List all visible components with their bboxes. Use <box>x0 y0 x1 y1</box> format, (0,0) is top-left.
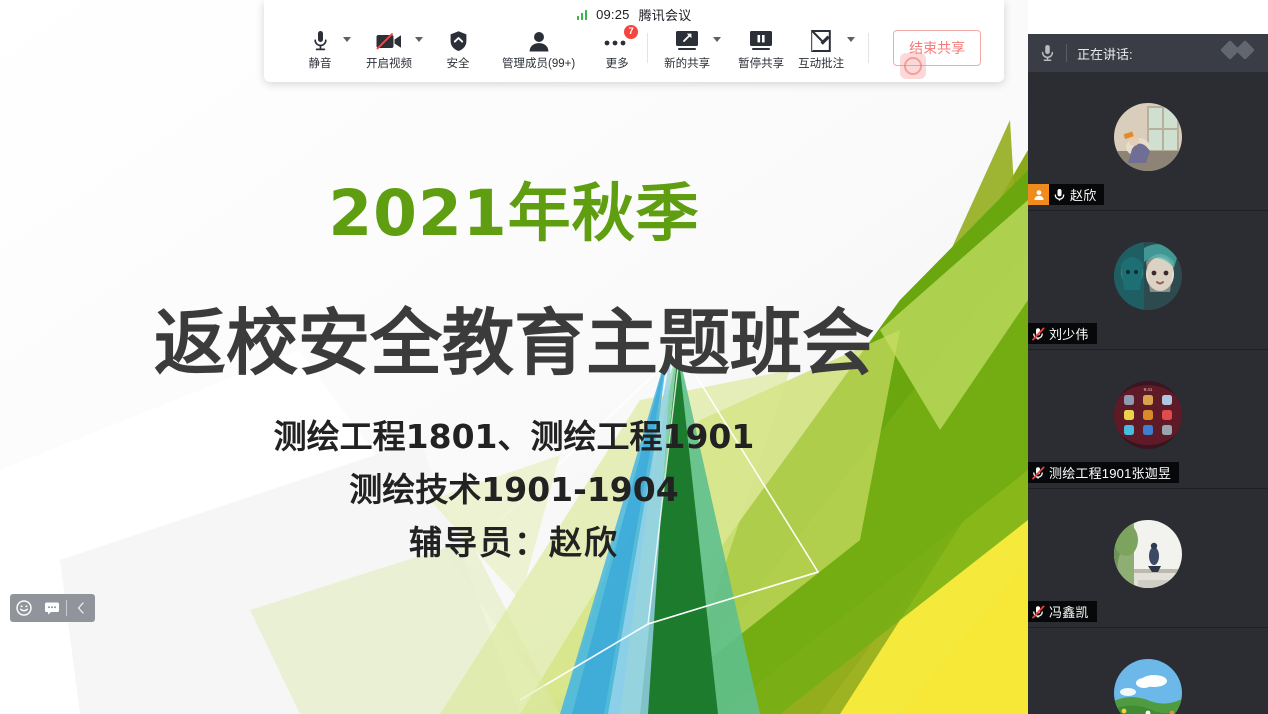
pen-annotate-icon <box>809 28 833 54</box>
toolbar-button-row: 静音 开启视频 <box>264 25 1004 78</box>
manage-members-button[interactable]: 管理成员(99+) <box>502 25 575 71</box>
participant-name: 冯鑫凯 <box>1049 602 1089 621</box>
microphone-muted-icon <box>1028 327 1049 341</box>
participant-tile[interactable]: 赵欣 <box>1028 72 1268 211</box>
speaking-label: 正在讲话: <box>1077 44 1133 63</box>
share-options-chevron-down-icon[interactable] <box>710 37 724 42</box>
mute-button[interactable]: 静音 <box>300 25 340 71</box>
participant-tile[interactable]: 刘少伟 <box>1028 211 1268 350</box>
microphone-muted-icon <box>1028 605 1049 619</box>
panel-header-speaking: 正在讲话: <box>1028 34 1268 72</box>
microphone-icon <box>1028 44 1066 62</box>
host-badge-icon <box>1028 184 1049 205</box>
more-badge: 7 <box>624 25 638 39</box>
app-name: 腾讯会议 <box>639 5 692 24</box>
manage-members-label: 管理成员(99+) <box>502 55 575 71</box>
avatar <box>1114 659 1182 714</box>
avatar <box>1114 242 1182 310</box>
start-video-button[interactable]: 开启视频 <box>366 25 412 71</box>
participant-name-chip: 测绘工程1901张迦昱 <box>1028 462 1179 483</box>
participant-name: 赵欣 <box>1070 185 1096 204</box>
pause-icon <box>747 28 775 54</box>
toolbar-divider-1 <box>647 33 648 63</box>
more-button[interactable]: 7 更多 <box>597 25 637 71</box>
shield-icon <box>449 28 468 54</box>
chevron-left-icon[interactable] <box>67 594 95 622</box>
participant-name-chip: 赵欣 <box>1028 184 1104 205</box>
microphone-icon <box>1049 188 1070 202</box>
ellipsis-icon: 7 <box>602 28 632 54</box>
annotate-label: 互动批注 <box>798 55 844 71</box>
more-label: 更多 <box>606 55 629 71</box>
new-share-label: 新的共享 <box>664 55 710 71</box>
smiley-face-icon[interactable] <box>10 594 38 622</box>
svg-text:9:41: 9:41 <box>1144 387 1153 392</box>
annotate-options-chevron-down-icon[interactable] <box>844 37 858 42</box>
meeting-screen-share-window: 2021年秋季 返校安全教育主题班会 测绘工程1801、测绘工程1901 测绘技… <box>0 0 1268 714</box>
participant-tile[interactable]: 9:41 测绘工程1901张迦昱 <box>1028 350 1268 489</box>
participant-tile[interactable] <box>1028 628 1268 714</box>
participant-name: 刘少伟 <box>1049 324 1089 343</box>
meeting-clock: 09:25 <box>596 7 630 22</box>
avatar <box>1114 520 1182 588</box>
pause-share-button[interactable]: 暂停共享 <box>738 25 784 71</box>
microphone-icon <box>313 28 328 54</box>
slide-decorative-polygons <box>0 0 1028 714</box>
meeting-status-bar: 09:25 腾讯会议 <box>264 0 1004 25</box>
participant-name: 测绘工程1901张迦昱 <box>1049 463 1171 482</box>
microphone-muted-icon <box>1028 466 1049 480</box>
tencent-meeting-logo-icon <box>1223 43 1252 57</box>
share-screen-icon <box>673 28 701 54</box>
meeting-control-toolbar: 09:25 腾讯会议 静音 <box>264 0 1004 82</box>
avatar: 9:41 <box>1114 381 1182 449</box>
annotate-button[interactable]: 互动批注 <box>798 25 844 71</box>
mute-label: 静音 <box>309 55 332 71</box>
participant-name-chip: 刘少伟 <box>1028 323 1097 344</box>
start-video-label: 开启视频 <box>366 55 412 71</box>
signal-bars-icon <box>577 9 588 20</box>
shared-screen-slide: 2021年秋季 返校安全教育主题班会 测绘工程1801、测绘工程1901 测绘技… <box>0 0 1028 714</box>
chat-bubble-icon[interactable] <box>38 594 66 622</box>
participant-video-panel: 正在讲话: <box>1028 34 1268 714</box>
header-divider <box>1066 44 1067 62</box>
end-share-button[interactable]: 结束共享 <box>893 30 981 66</box>
security-button[interactable]: 安全 <box>438 25 478 71</box>
participant-name-chip: 冯鑫凯 <box>1028 601 1097 622</box>
toolbar-divider-2 <box>868 33 869 63</box>
security-label: 安全 <box>447 55 470 71</box>
new-share-button[interactable]: 新的共享 <box>664 25 710 71</box>
video-options-chevron-down-icon[interactable] <box>412 37 426 42</box>
pause-share-label: 暂停共享 <box>738 55 784 71</box>
avatar <box>1114 103 1182 171</box>
mute-options-chevron-down-icon[interactable] <box>340 37 354 42</box>
floating-reaction-widget[interactable] <box>10 594 95 622</box>
participant-tile[interactable]: 冯鑫凯 <box>1028 489 1268 628</box>
person-icon <box>528 28 550 54</box>
video-off-icon <box>375 28 403 54</box>
